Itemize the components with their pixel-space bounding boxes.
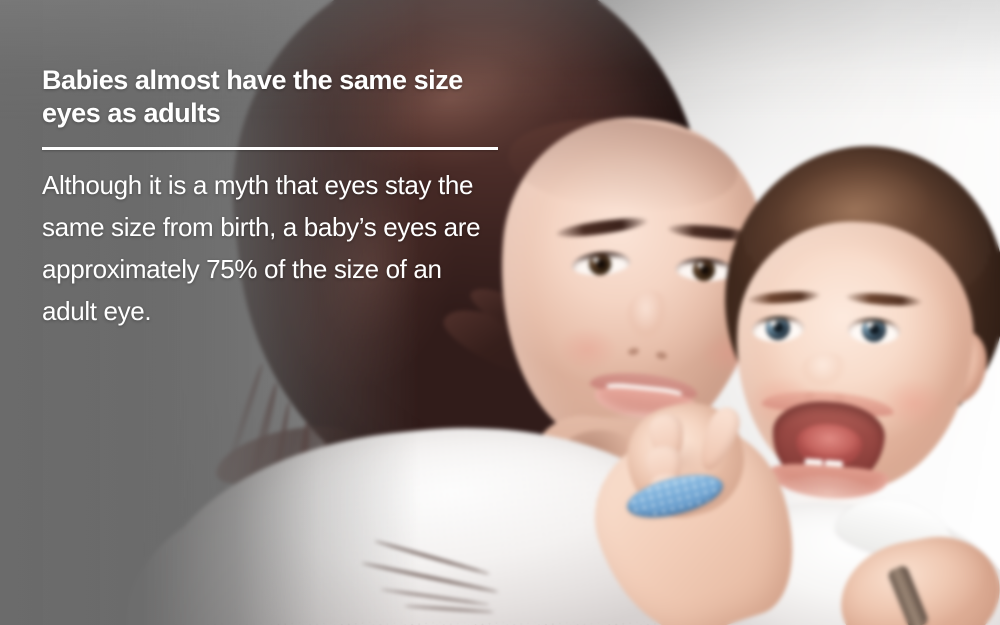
mother-cheek-left bbox=[546, 318, 630, 380]
baby-eyelash-left bbox=[751, 315, 803, 325]
mother-nose bbox=[624, 290, 676, 356]
divider-rule bbox=[42, 147, 498, 150]
headline: Babies almost have the same size eyes as… bbox=[42, 64, 504, 130]
baby-eyelash-right bbox=[848, 317, 900, 327]
body-copy: Although it is a myth that eyes stay the… bbox=[42, 164, 502, 332]
text-block: Babies almost have the same size eyes as… bbox=[42, 64, 512, 332]
mother-eyelash-right bbox=[676, 256, 734, 267]
infographic-card: Babies almost have the same size eyes as… bbox=[0, 0, 1000, 625]
